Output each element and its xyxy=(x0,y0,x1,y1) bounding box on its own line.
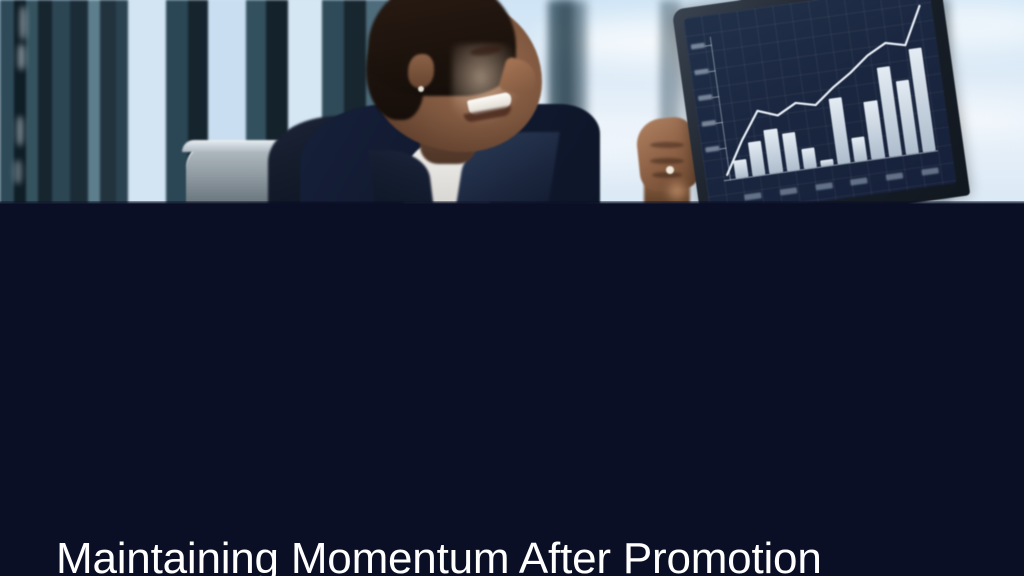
ring xyxy=(666,166,674,174)
monitor-screen xyxy=(683,0,957,204)
hero-image xyxy=(0,0,1024,204)
content-area: Maintaining Momentum After Promotion Hit… xyxy=(0,204,1024,576)
window-reflection xyxy=(18,44,25,70)
slide: Maintaining Momentum After Promotion Hit… xyxy=(0,0,1024,576)
knuckle xyxy=(650,158,684,164)
ear xyxy=(408,54,434,88)
earring xyxy=(418,86,424,92)
page-title: Maintaining Momentum After Promotion xyxy=(56,534,822,576)
window-reflection xyxy=(20,6,26,40)
monitor xyxy=(672,0,971,204)
window-reflection xyxy=(14,160,22,184)
window-reflection xyxy=(17,116,23,146)
knuckle xyxy=(650,142,684,148)
